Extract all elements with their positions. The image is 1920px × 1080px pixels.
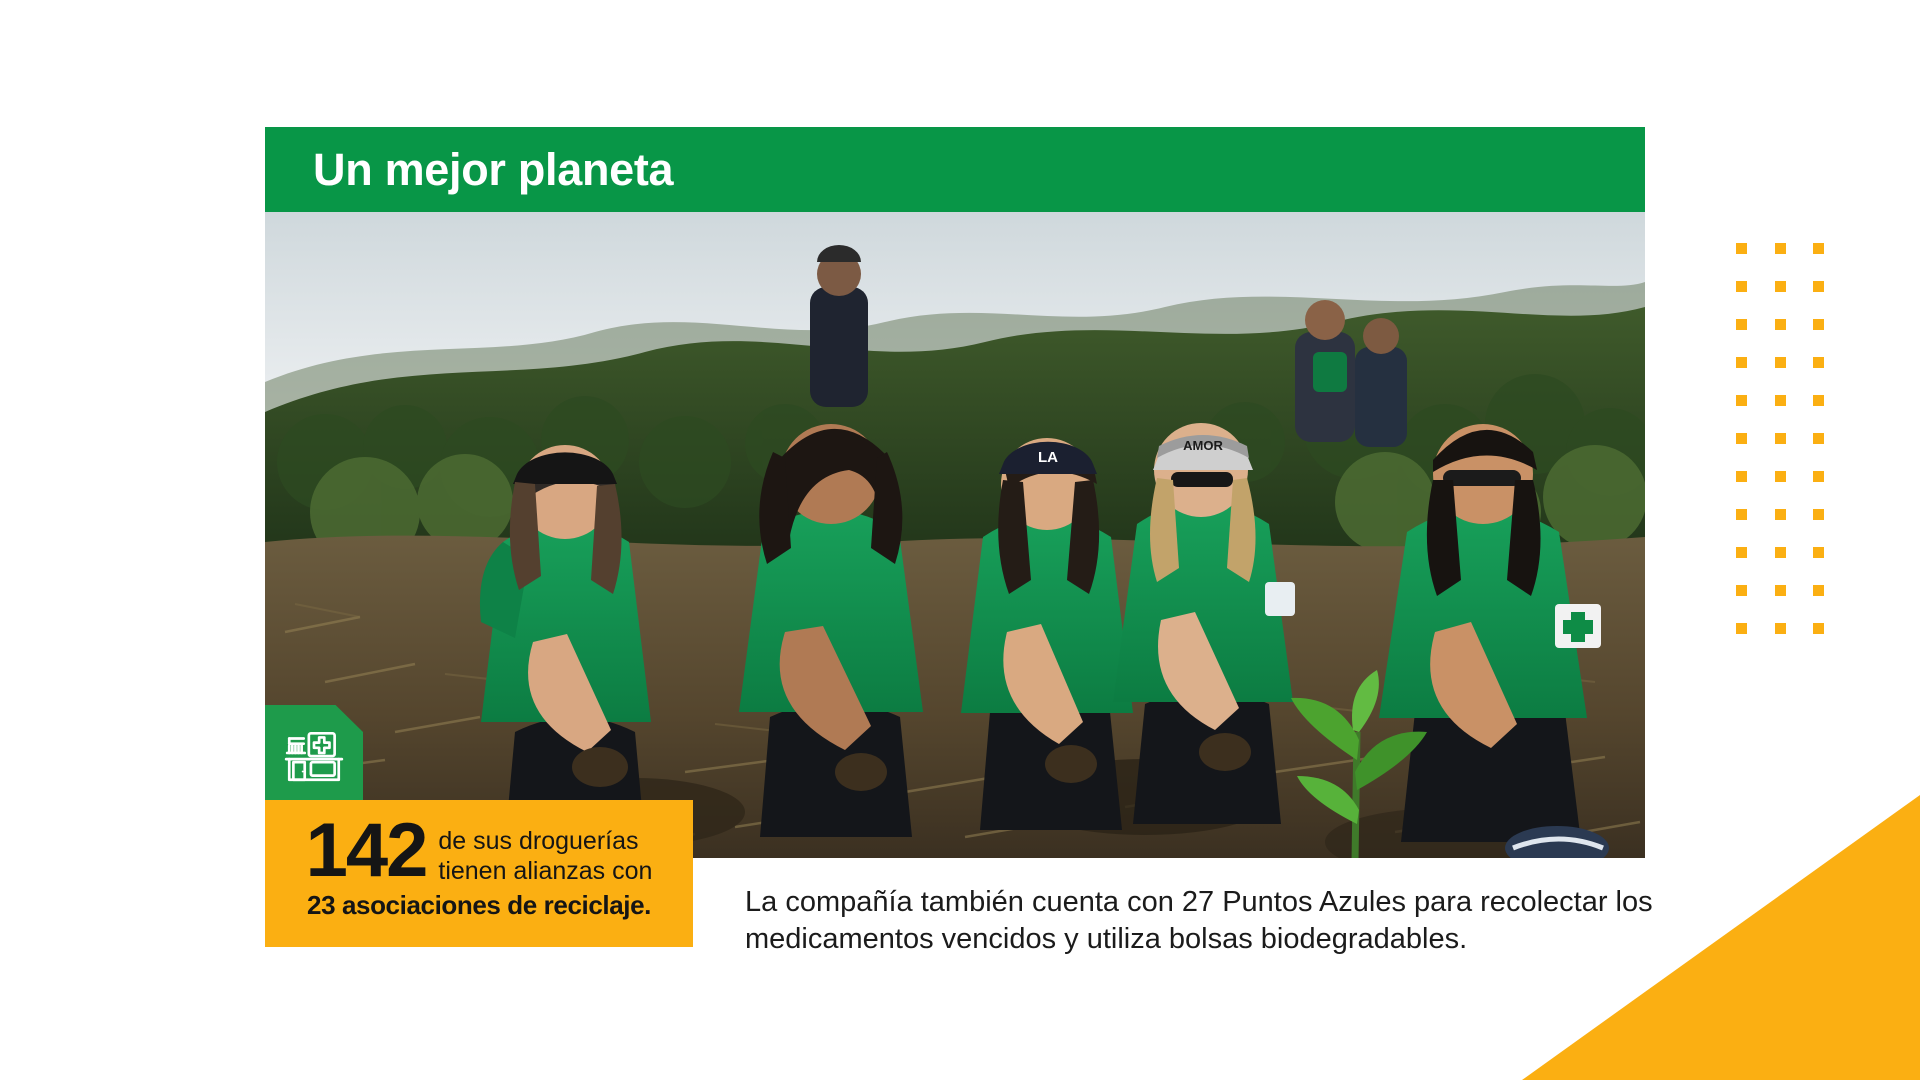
stat-description: de sus droguerías tienen alianzas con xyxy=(438,816,652,886)
svg-text:AMOR: AMOR xyxy=(1183,438,1223,453)
dot xyxy=(1775,281,1786,292)
svg-text:LA: LA xyxy=(1038,449,1058,466)
dot xyxy=(1775,243,1786,254)
title-banner: Un mejor planeta xyxy=(265,127,1645,212)
dot xyxy=(1775,471,1786,482)
decorative-dot-grid xyxy=(1736,243,1852,623)
page-title: Un mejor planeta xyxy=(265,147,673,192)
dot xyxy=(1736,357,1747,368)
slide-canvas: Un mejor planeta xyxy=(0,0,1920,1080)
dot xyxy=(1775,623,1786,634)
dot xyxy=(1813,471,1824,482)
pharmacy-storefront-icon xyxy=(281,722,347,788)
stat-callout-box: 142 de sus droguerías tienen alianzas co… xyxy=(265,800,693,947)
stat-number: 142 xyxy=(306,816,427,886)
dot xyxy=(1813,357,1824,368)
dot xyxy=(1736,471,1747,482)
stat-line-1: de sus droguerías xyxy=(438,826,652,856)
volunteer-2 xyxy=(739,424,923,837)
dot xyxy=(1813,395,1824,406)
body-copy: La compañía también cuenta con 27 Puntos… xyxy=(745,884,1665,958)
stat-highlight: 23 asociaciones de reciclaje. xyxy=(287,890,671,921)
dot xyxy=(1813,319,1824,330)
dot xyxy=(1813,547,1824,558)
dot xyxy=(1736,395,1747,406)
stat-line-2: tienen alianzas con xyxy=(438,856,652,886)
dot xyxy=(1736,547,1747,558)
dot xyxy=(1813,585,1824,596)
body-paragraph: La compañía también cuenta con 27 Puntos… xyxy=(745,884,1665,958)
dot xyxy=(1775,319,1786,330)
dot xyxy=(1736,585,1747,596)
dot xyxy=(1775,585,1786,596)
background-person xyxy=(810,245,868,407)
dot xyxy=(1813,509,1824,520)
hero-photo-illustration: LA AMOR xyxy=(265,212,1645,858)
dot xyxy=(1736,243,1747,254)
dot xyxy=(1736,281,1747,292)
dot xyxy=(1775,395,1786,406)
dot xyxy=(1775,509,1786,520)
dot xyxy=(1736,509,1747,520)
dot xyxy=(1736,623,1747,634)
stat-top-row: 142 de sus droguerías tienen alianzas co… xyxy=(287,816,671,886)
dot xyxy=(1813,433,1824,444)
dot xyxy=(1813,281,1824,292)
dot xyxy=(1813,623,1824,634)
dot xyxy=(1775,357,1786,368)
dot xyxy=(1775,433,1786,444)
dot xyxy=(1736,433,1747,444)
dot xyxy=(1775,547,1786,558)
dot xyxy=(1813,243,1824,254)
hero-photo: LA AMOR xyxy=(265,212,1645,858)
pharmacy-icon-badge xyxy=(265,705,363,805)
dot xyxy=(1736,319,1747,330)
